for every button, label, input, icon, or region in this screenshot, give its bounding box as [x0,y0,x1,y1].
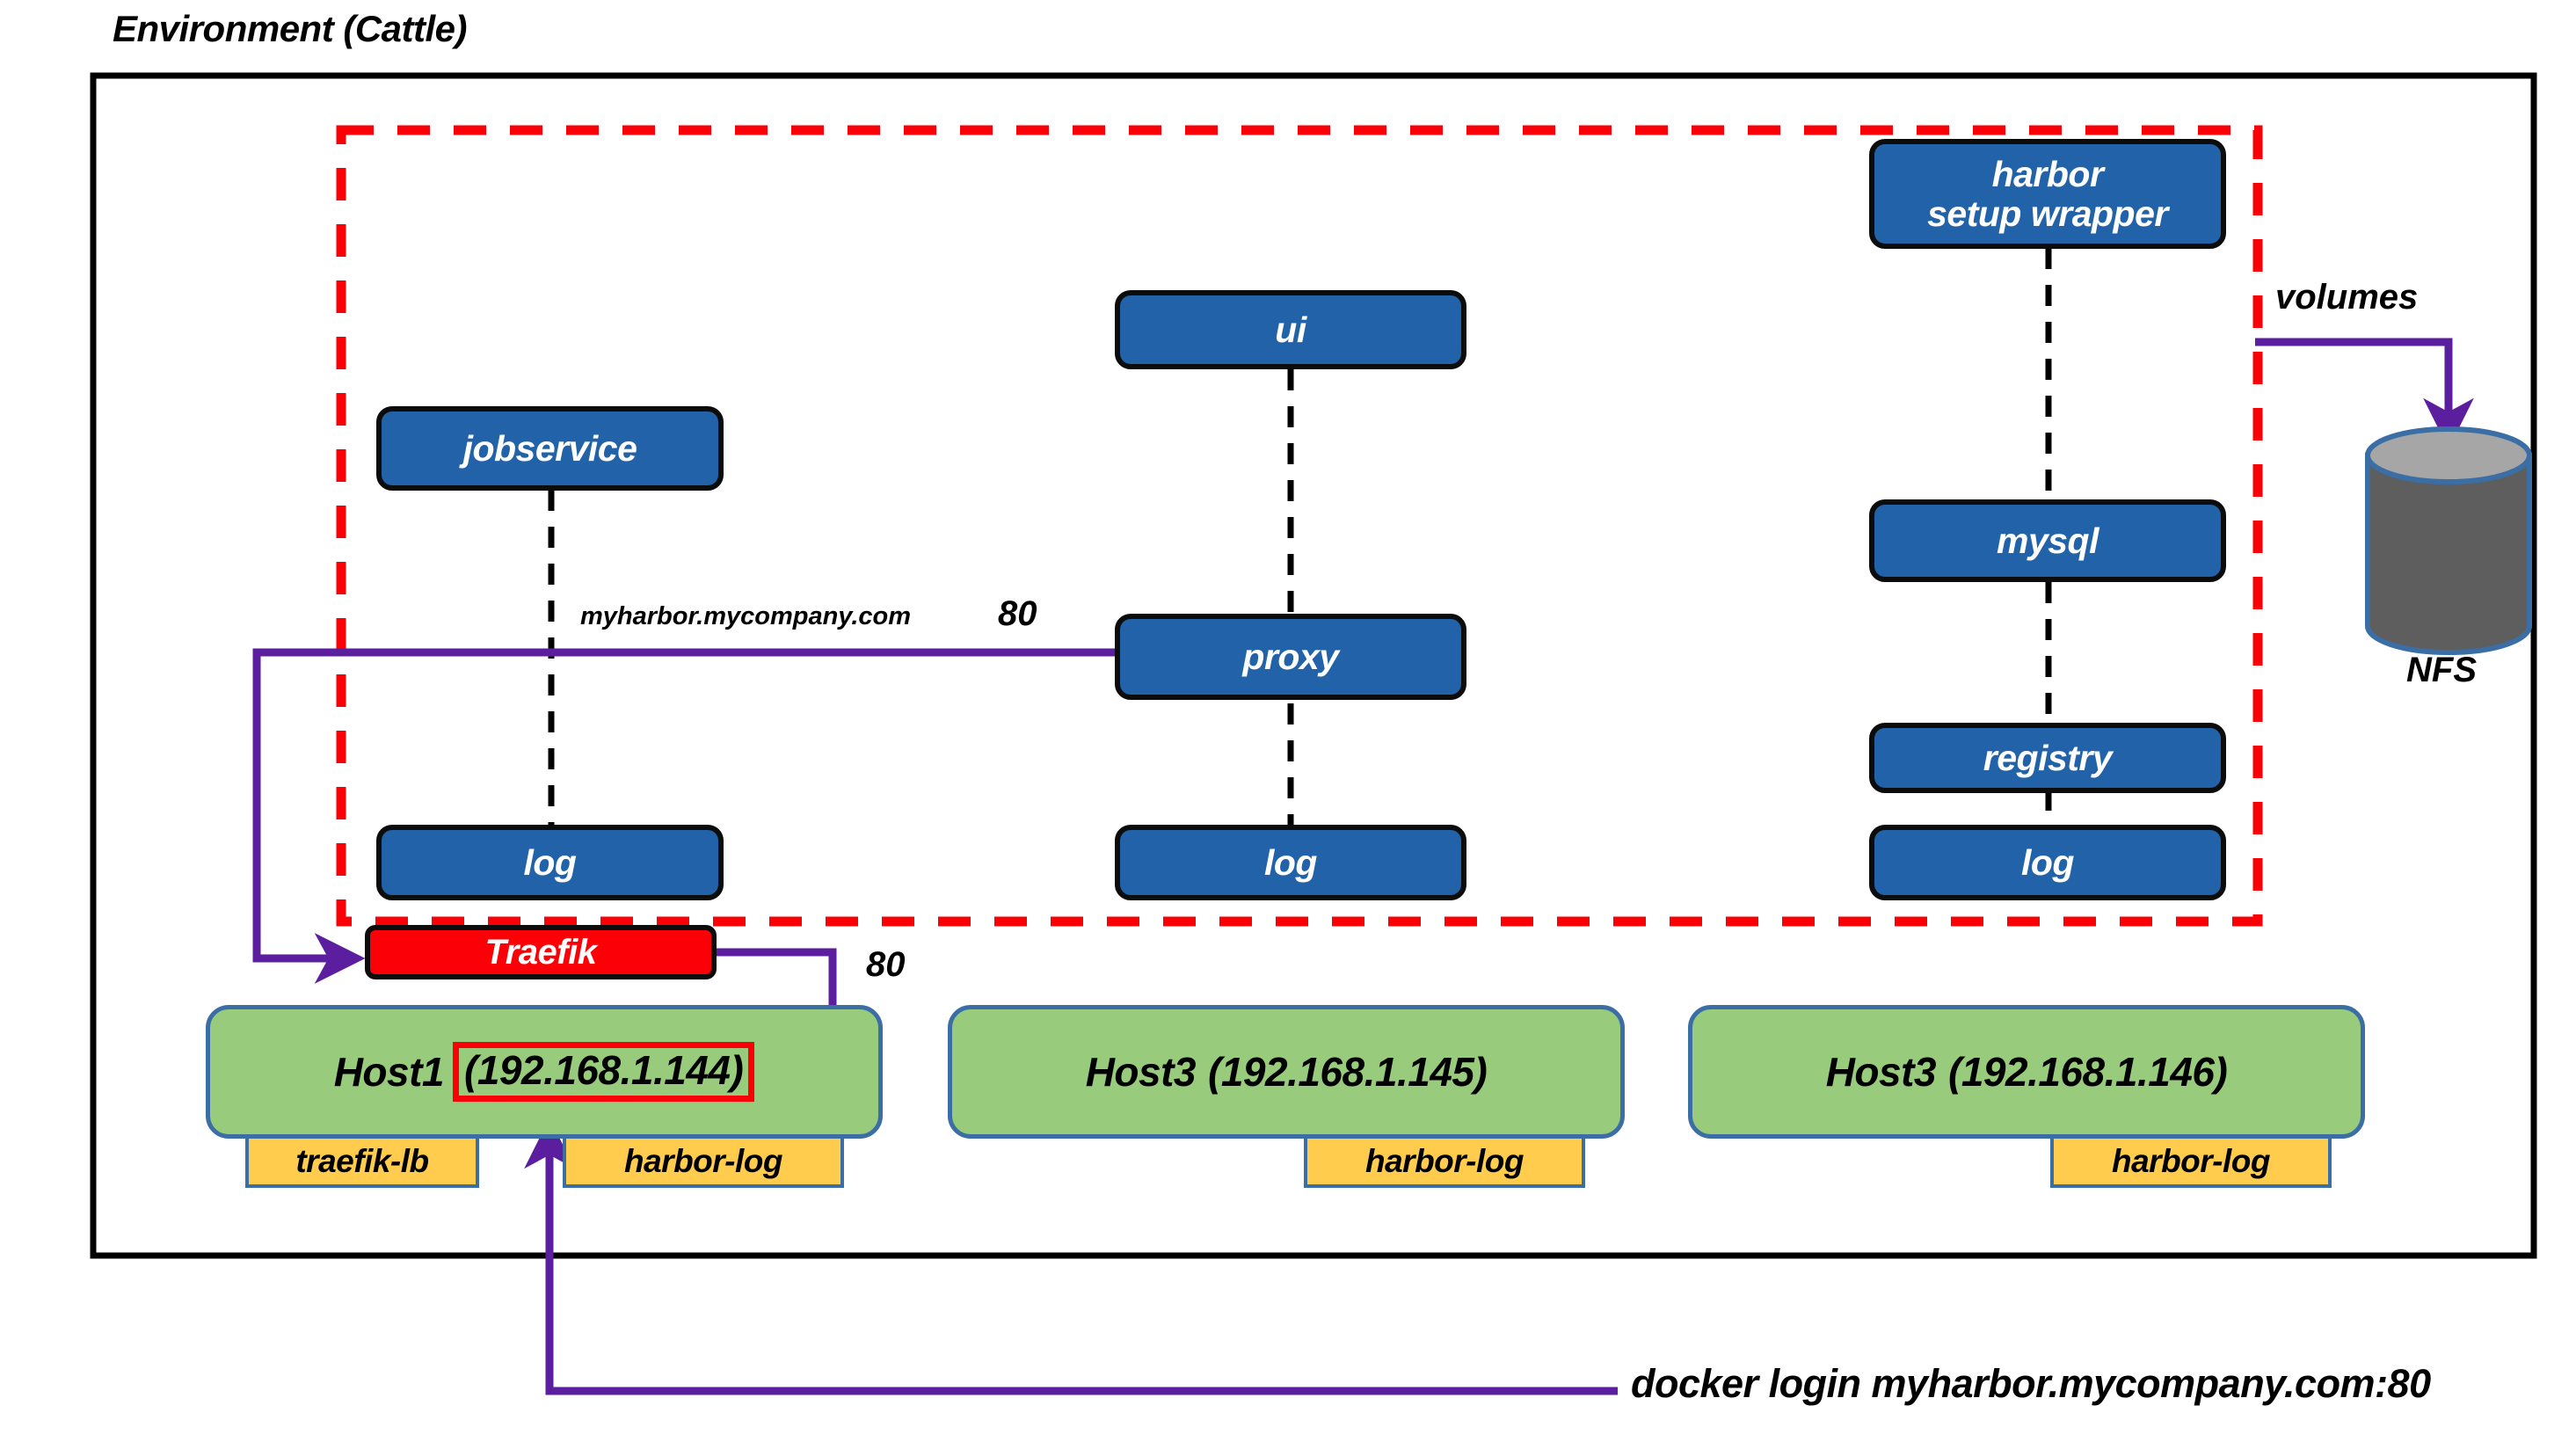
host-ip-highlighted: (192.168.1.144) [453,1042,754,1102]
host-box-host2[interactable]: Host3 (192.168.1.145) [948,1005,1625,1139]
flow-proxy-to-traefik [257,652,1115,958]
stack-label-harbor-log-host2[interactable]: harbor-log [1304,1135,1585,1188]
stack-label-traefik-lb-host1[interactable]: traefik-lb [245,1135,479,1188]
service-label-line1: harbor [1992,155,2104,193]
service-label: registry [1983,739,2112,777]
nfs-label: NFS [2406,652,2477,688]
diagram-canvas: Environment (Cattle) jobservice log ui p… [0,0,2576,1449]
service-label-line2: setup wrapper [1927,194,2168,233]
port-annotation-traefik: 80 [866,947,906,982]
domain-annotation: myharbor.mycompany.com [580,604,911,630]
stack-label-text: harbor-log [624,1143,782,1180]
service-label: proxy [1242,637,1338,676]
service-label: log [524,843,577,882]
host-name: Host3 [1086,1048,1196,1096]
service-label: log [1264,843,1317,882]
host-ip: (192.168.1.146) [1948,1048,2227,1096]
traefik-label: Traefik [485,933,597,972]
service-label: log [2021,843,2074,882]
service-box-registry[interactable]: registry [1869,723,2226,793]
service-box-log-middle[interactable]: log [1115,825,1466,900]
host-name: Host1 [334,1048,444,1096]
stack-label-text: harbor-log [2112,1143,2270,1180]
stack-label-text: harbor-log [1365,1143,1524,1180]
stack-label-harbor-log-host3[interactable]: harbor-log [2050,1135,2332,1188]
flow-volumes-to-nfs [2255,342,2449,440]
service-box-mysql[interactable]: mysql [1869,499,2226,582]
traefik-load-balancer-box[interactable]: Traefik [365,925,717,979]
host-box-host1[interactable]: Host1 (192.168.1.144) [206,1005,883,1139]
stack-label-text: traefik-lb [295,1143,428,1180]
service-label: ui [1275,310,1306,349]
host-name: Host3 [1826,1048,1936,1096]
host-box-host3[interactable]: Host3 (192.168.1.146) [1688,1005,2365,1139]
volumes-annotation: volumes [2275,280,2418,315]
service-box-ui[interactable]: ui [1115,290,1466,369]
docker-login-annotation: docker login myharbor.mycompany.com:80 [1631,1364,2431,1403]
service-label: mysql [1997,521,2099,560]
stack-label-harbor-log-host1[interactable]: harbor-log [563,1135,844,1188]
service-box-jobservice[interactable]: jobservice [376,406,724,491]
service-box-log-right[interactable]: log [1869,825,2226,900]
service-box-proxy[interactable]: proxy [1115,614,1466,700]
port-annotation-proxy: 80 [998,596,1037,631]
service-box-log-left[interactable]: log [376,825,724,900]
service-box-harbor-setup-wrapper[interactable]: harbor setup wrapper [1869,139,2226,249]
host-ip: (192.168.1.145) [1208,1048,1487,1096]
nfs-cylinder-icon [2368,429,2529,652]
service-label: jobservice [463,429,637,468]
page-title: Environment (Cattle) [113,11,467,47]
